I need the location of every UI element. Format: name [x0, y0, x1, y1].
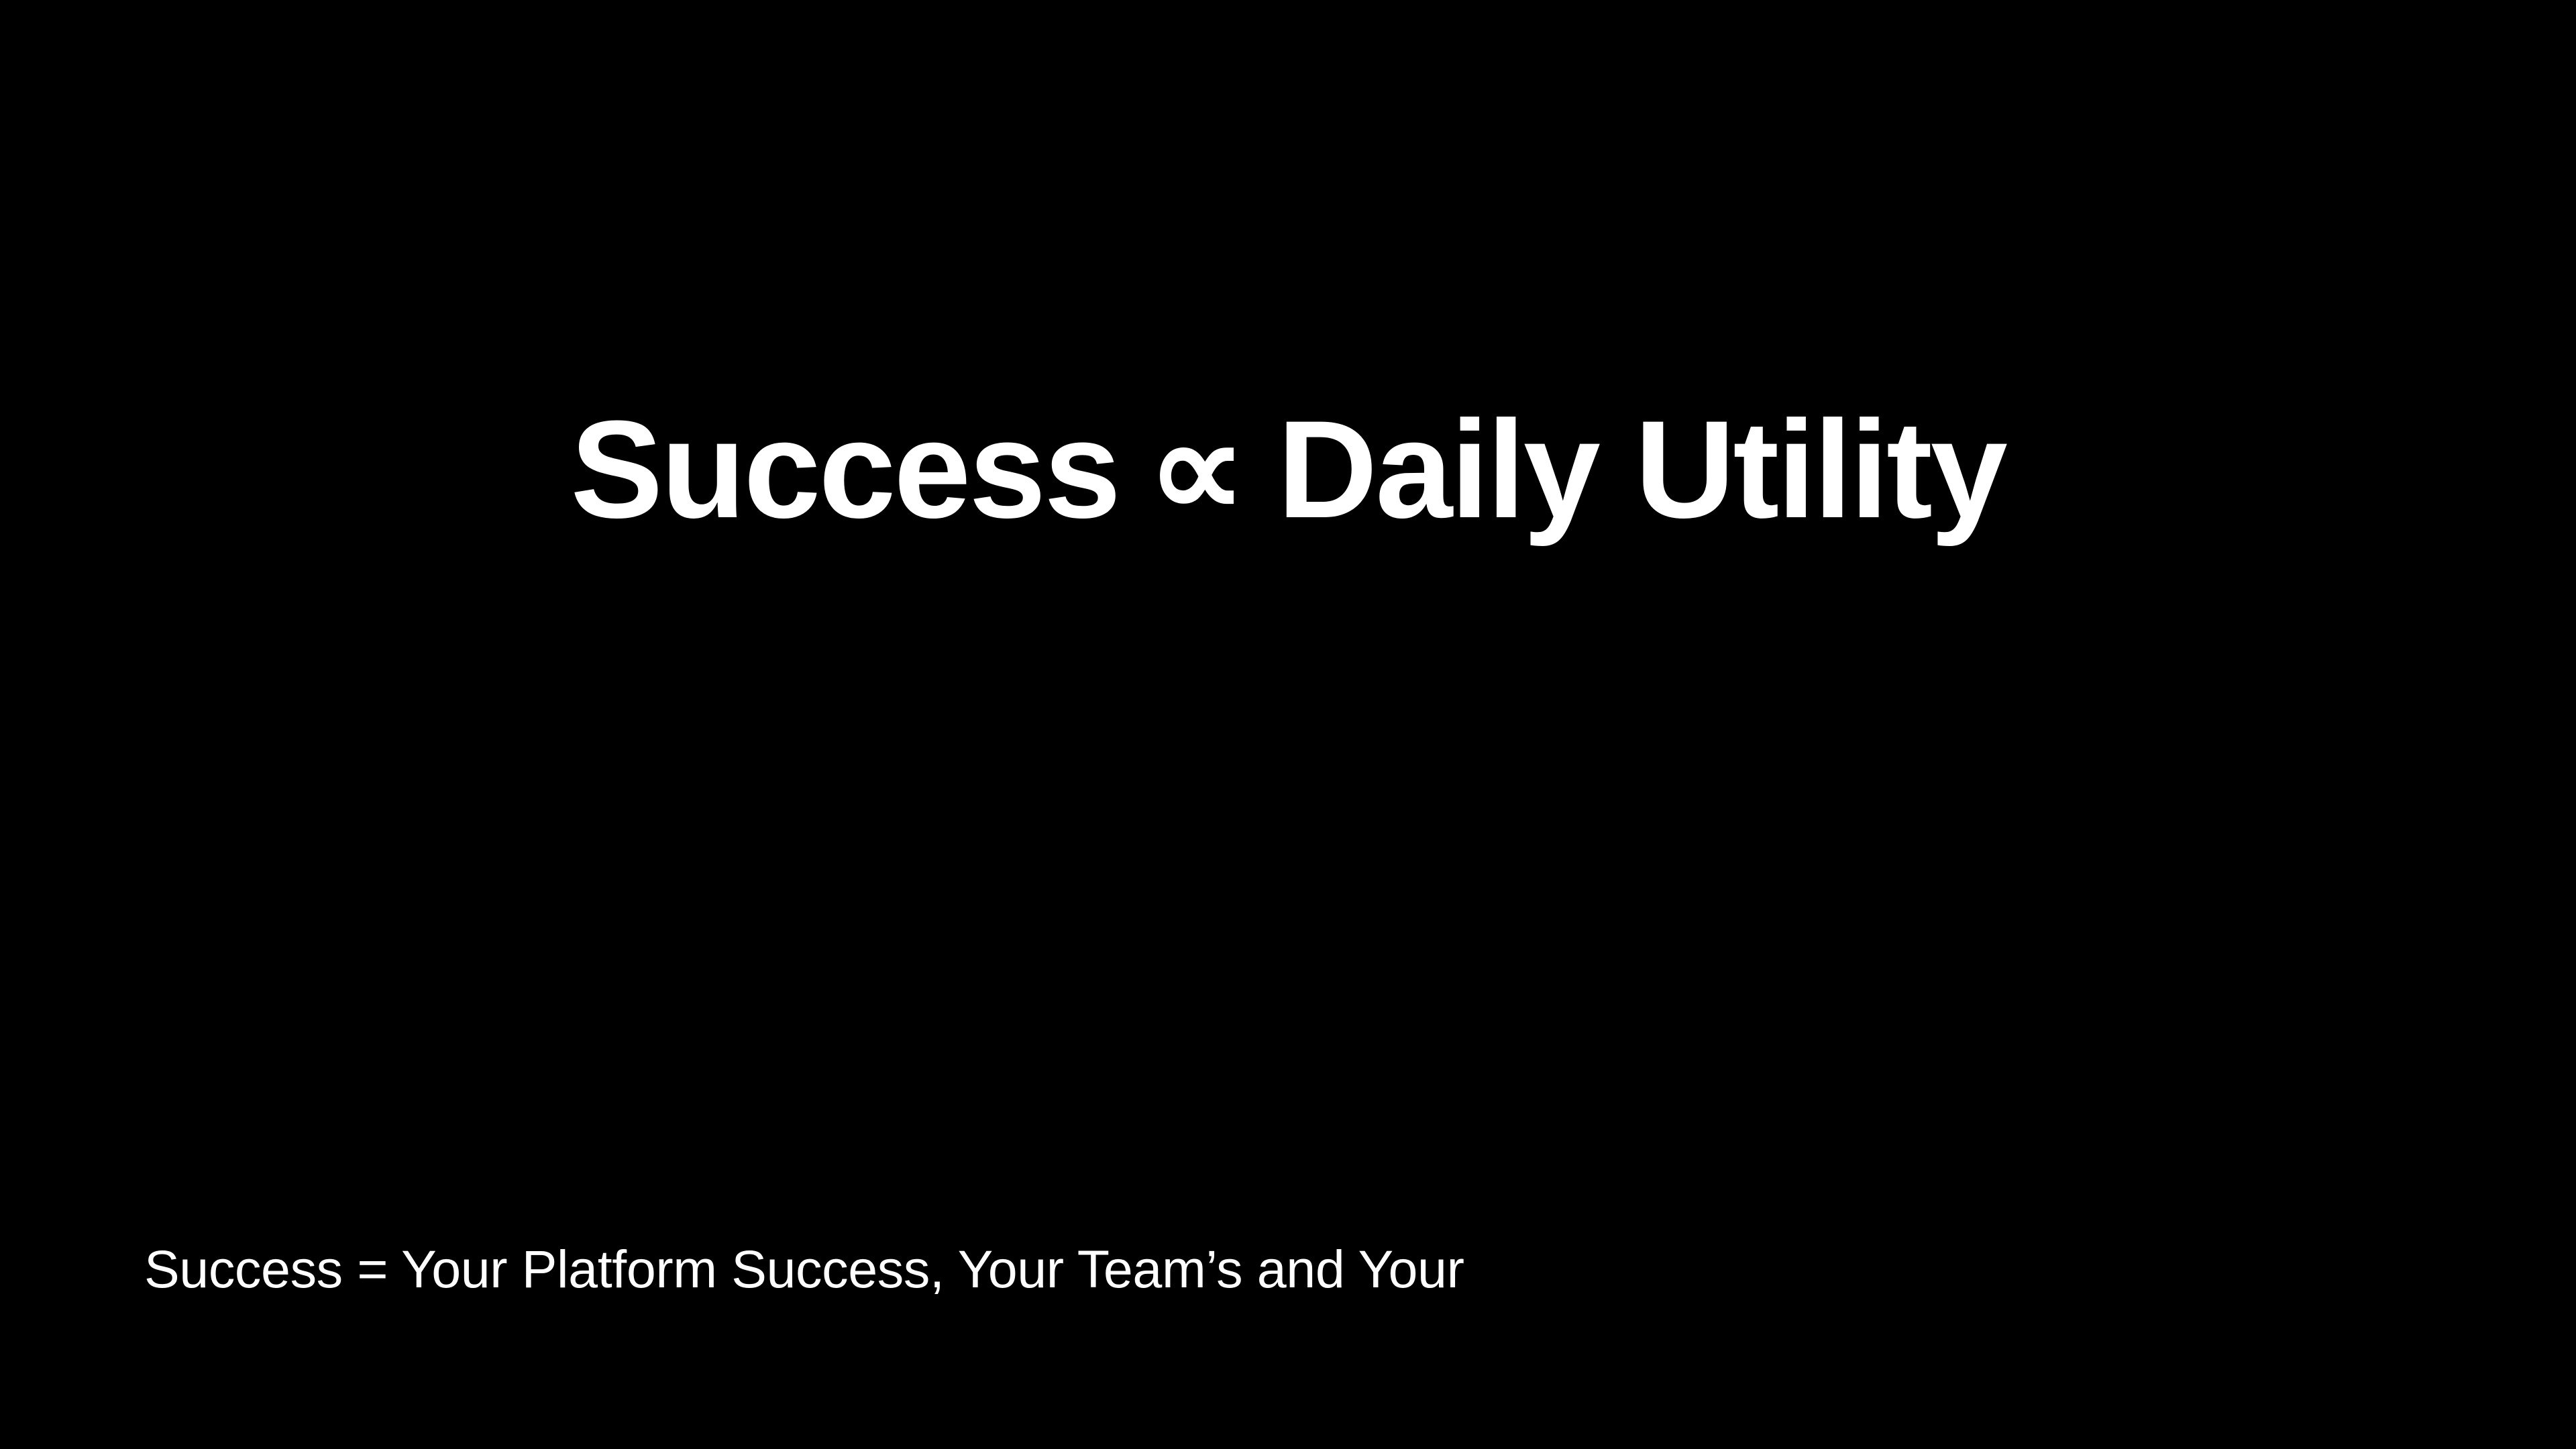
headline-block: Success ∝ Daily Utility [0, 0, 2576, 939]
headline-right-term: Daily Utility [1277, 392, 2006, 547]
caption-text: Success = Your Platform Success, Your Te… [144, 1238, 2425, 1300]
headline-left-term: Success [570, 392, 1119, 547]
slide-canvas: Success ∝ Daily Utility Success = Your P… [0, 0, 2576, 1449]
proportional-to-icon: ∝ [1147, 392, 1246, 547]
caption-block: Success = Your Platform Success, Your Te… [144, 1238, 2425, 1300]
page-title: Success ∝ Daily Utility [570, 392, 2005, 547]
